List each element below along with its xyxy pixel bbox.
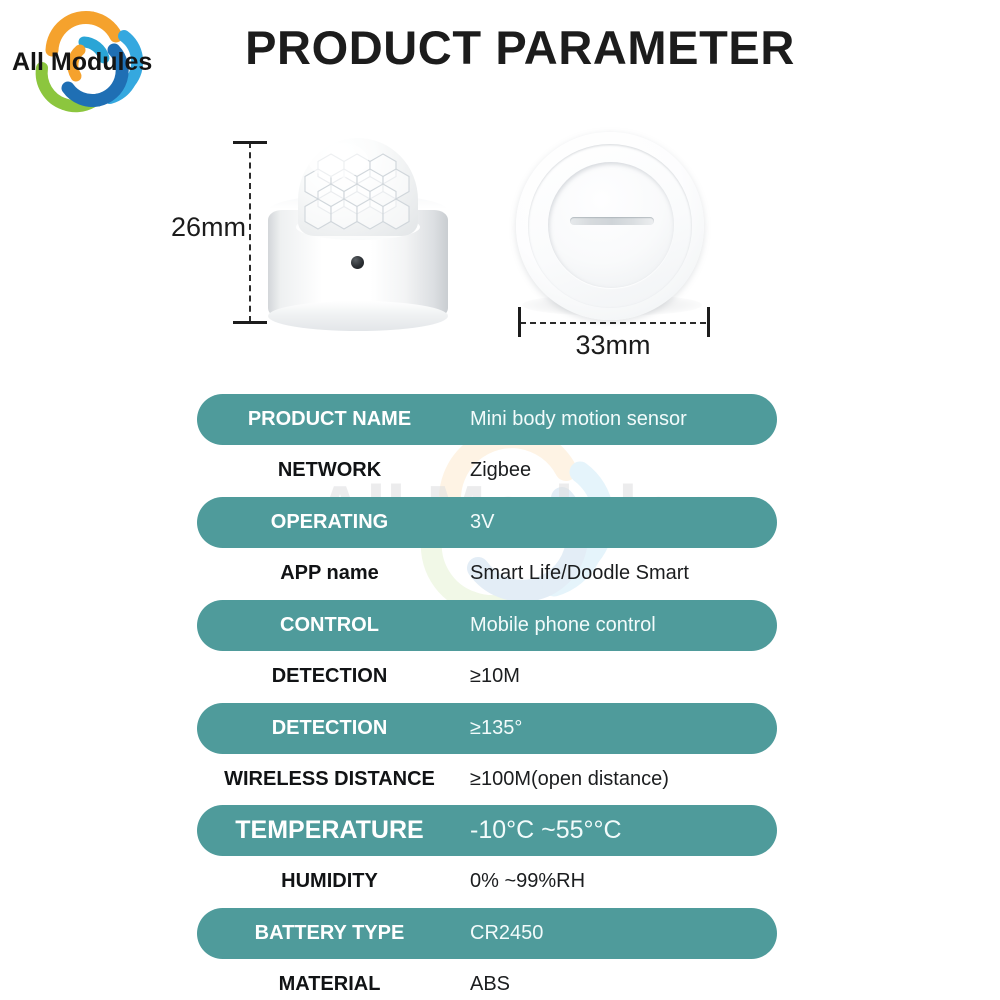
brand-logo-text: All Modules — [12, 48, 152, 76]
sensor-base-bottom — [268, 301, 448, 331]
spec-label: NETWORK — [197, 459, 462, 482]
table-row[interactable]: DETECTION ≥135° — [197, 703, 777, 754]
table-row[interactable]: DETECTION ≥10M — [197, 651, 777, 702]
table-row[interactable]: MATERIAL ABS — [197, 959, 777, 1000]
spec-value: Mini body motion sensor — [462, 408, 777, 431]
spec-label: PRODUCT NAME — [197, 408, 462, 431]
table-row[interactable]: APP name Smart Life/Doodle Smart — [197, 548, 777, 599]
table-row[interactable]: NETWORK Zigbee — [197, 445, 777, 496]
spec-label: MATERIAL — [197, 973, 462, 996]
table-row[interactable]: WIRELESS DISTANCE ≥100M(open distance) — [197, 754, 777, 805]
table-row[interactable]: HUMIDITY 0% ~99%RH — [197, 856, 777, 907]
spec-label: DETECTION — [197, 717, 462, 740]
table-row[interactable]: PRODUCT NAME Mini body motion sensor — [197, 394, 777, 445]
spec-value: CR2450 — [462, 922, 777, 945]
spec-label: CONTROL — [197, 614, 462, 637]
product-parameter-page: All Modules PRODUCT PARAMETER 26mm — [0, 0, 1000, 1000]
spec-label: BATTERY TYPE — [197, 922, 462, 945]
disc-battery-cover — [548, 162, 674, 288]
brand-logo: All Modules — [6, 6, 186, 116]
spec-label: WIRELESS DISTANCE — [197, 768, 462, 791]
sensor-fresnel-dome — [298, 138, 418, 236]
spec-label: OPERATING — [197, 511, 462, 534]
width-dimension-label: 33mm — [518, 330, 708, 361]
table-row[interactable]: OPERATING 3V — [197, 497, 777, 548]
sensor-bottom-disc-image — [512, 132, 712, 322]
spec-value: Mobile phone control — [462, 614, 777, 637]
pir-motion-sensor-image — [262, 136, 454, 332]
table-row[interactable]: TEMPERATURE -10°C ~55°°C — [197, 805, 777, 856]
disc-open-slot-icon — [570, 217, 654, 225]
table-row[interactable]: CONTROL Mobile phone control — [197, 600, 777, 651]
spec-value: -10°C ~55°°C — [462, 816, 777, 845]
spec-label: DETECTION — [197, 665, 462, 688]
spec-label: TEMPERATURE — [197, 816, 462, 845]
spec-value: 0% ~99%RH — [462, 870, 777, 893]
spec-value: Smart Life/Doodle Smart — [462, 562, 777, 585]
width-dimension-line — [520, 322, 706, 324]
spec-value: 3V — [462, 511, 777, 534]
sensor-led-indicator-icon — [351, 256, 364, 269]
spec-value: ≥135° — [462, 717, 777, 740]
table-row[interactable]: BATTERY TYPE CR2450 — [197, 908, 777, 959]
spec-value: Zigbee — [462, 459, 777, 482]
height-dimension-line — [249, 142, 251, 322]
product-image-area — [0, 125, 1000, 370]
page-title: PRODUCT PARAMETER — [210, 20, 830, 75]
spec-value: ≥10M — [462, 665, 777, 688]
height-dimension-label: 26mm — [160, 212, 246, 243]
spec-value: ≥100M(open distance) — [462, 768, 777, 791]
spec-label: APP name — [197, 562, 462, 585]
spec-label: HUMIDITY — [197, 870, 462, 893]
spec-value: ABS — [462, 973, 777, 996]
swirl-logo-icon: All Modules — [6, 6, 186, 116]
